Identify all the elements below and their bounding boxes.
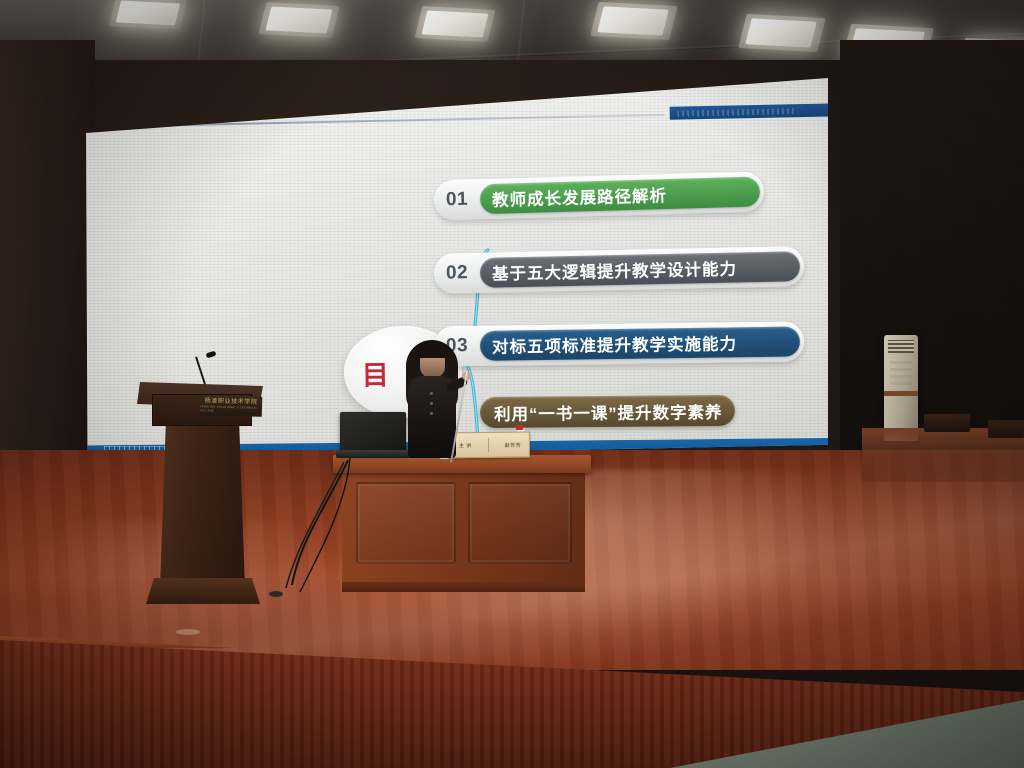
presenter-bangs — [417, 344, 448, 358]
ceiling-light-panel — [745, 18, 817, 47]
bottle-cap — [516, 425, 523, 430]
desk-skirt — [342, 582, 585, 592]
toc-item-text: 利用“一书一课”提升数字素养 — [494, 398, 723, 424]
toc-item-04[interactable]: 利用“一书一课”提升数字素养 — [480, 395, 735, 428]
podium-base — [146, 578, 260, 604]
desk-panel — [468, 482, 572, 564]
ceiling-light-panel — [421, 10, 488, 37]
toc-item-03[interactable]: 03 对标五项标准提升教学实施能力 — [434, 321, 805, 366]
ac-grille — [888, 340, 914, 353]
ac-vent — [890, 359, 912, 385]
ceiling-light-panel — [116, 0, 181, 25]
podium-body — [160, 418, 245, 588]
toc-item-text: 基于五大逻辑提升教学设计能力 — [492, 256, 737, 285]
side-rail-box — [924, 414, 970, 432]
desk-body — [342, 470, 585, 585]
desk-panel — [356, 482, 456, 564]
ac-band — [884, 391, 918, 396]
header-blue-bar — [670, 103, 830, 119]
ceiling-light-panel — [597, 6, 669, 35]
toc-item-bar: 教师成长发展路径解析 — [480, 177, 761, 215]
podium-nameplate-en: YANGLING VOCATIONAL & TECHNICAL COLLEGE — [200, 405, 262, 414]
toc-item-text: 教师成长发展路径解析 — [492, 182, 668, 211]
podium-nameplate: 杨凌职业技术学院 YANGLING VOCATIONAL & TECHNICAL… — [200, 395, 263, 417]
toc-item-number: 01 — [434, 188, 481, 211]
side-rail-box — [988, 420, 1024, 438]
toc-item-01[interactable]: 01 教师成长发展路径解析 — [434, 171, 765, 220]
ceiling-light-panel — [265, 6, 332, 33]
nameplate-name: 赵芳芳 — [505, 441, 521, 448]
toc-item-text: 对标五项标准提升教学实施能力 — [492, 330, 737, 357]
laptop[interactable] — [340, 412, 406, 454]
toc-item-bar: 基于五大逻辑提升教学设计能力 — [480, 251, 801, 288]
toc-item-bar: 对标五项标准提升教学实施能力 — [480, 326, 800, 360]
air-conditioner-unit — [884, 335, 918, 441]
toc-item-number: 02 — [434, 262, 480, 285]
lecture-hall-photo: XAPI 西安航空职业技术学院 XI'AN AERONAUTICAL POLYT… — [0, 0, 1024, 768]
wall-left-panel — [0, 40, 95, 510]
presenter — [398, 336, 470, 458]
toc-item-02[interactable]: 02 基于五大逻辑提升教学设计能力 — [434, 246, 805, 294]
